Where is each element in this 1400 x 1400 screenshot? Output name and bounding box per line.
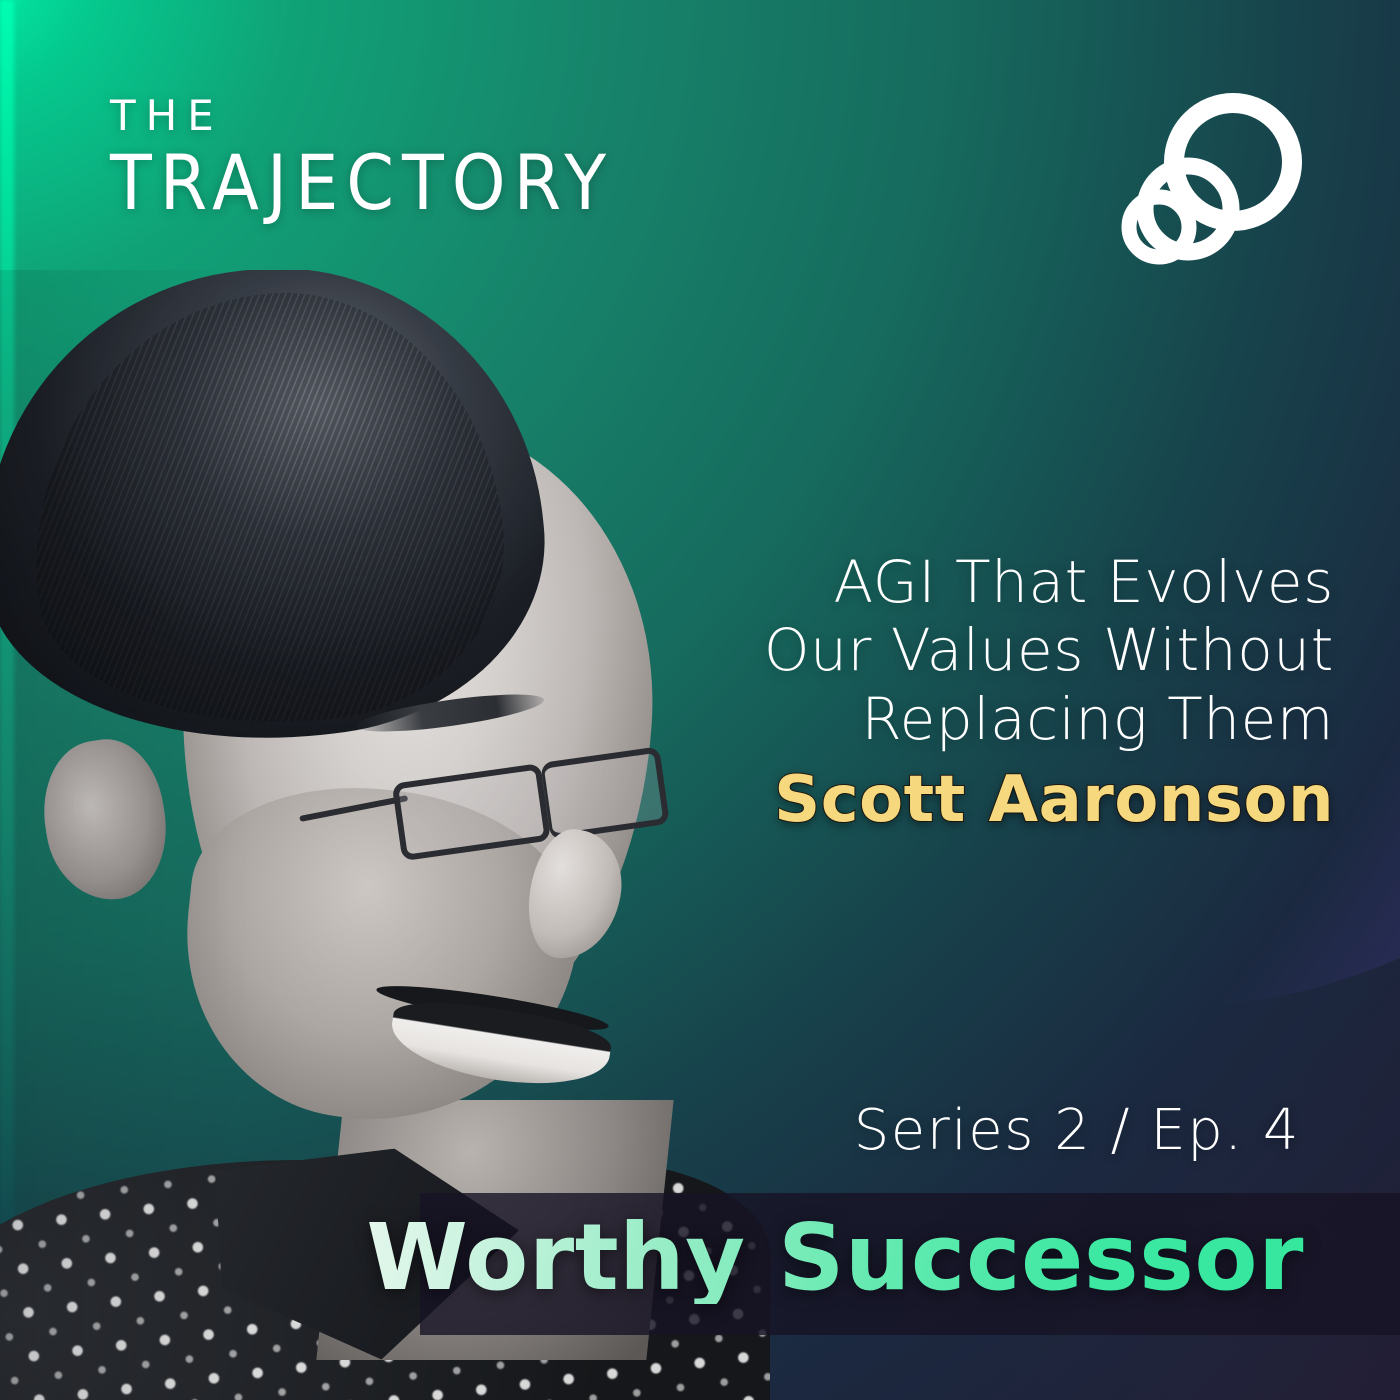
- episode-title-line-2: Our Values Without: [594, 616, 1334, 684]
- guest-name: Scott Aaronson: [594, 767, 1334, 834]
- show-name: Worthy Successor: [366, 1212, 1304, 1304]
- three-overlapping-rings-icon: [1105, 85, 1305, 275]
- episode-title-line-3: Replacing Them: [594, 685, 1334, 753]
- brand-name-label: TRAJECTORY: [110, 145, 614, 221]
- episode-title: AGI That Evolves Our Values Without Repl…: [594, 548, 1334, 753]
- brand-wordmark: THE TRAJECTORY: [110, 95, 614, 221]
- episode-title-line-1: AGI That Evolves: [594, 548, 1334, 616]
- podcast-cover-art: THE TRAJECTORY AGI That Evolves Our Valu…: [0, 0, 1400, 1400]
- episode-title-block: AGI That Evolves Our Values Without Repl…: [594, 548, 1334, 835]
- brand-the-label: THE: [110, 95, 614, 137]
- series-episode-label: Series 2 / Ep. 4: [854, 1098, 1300, 1163]
